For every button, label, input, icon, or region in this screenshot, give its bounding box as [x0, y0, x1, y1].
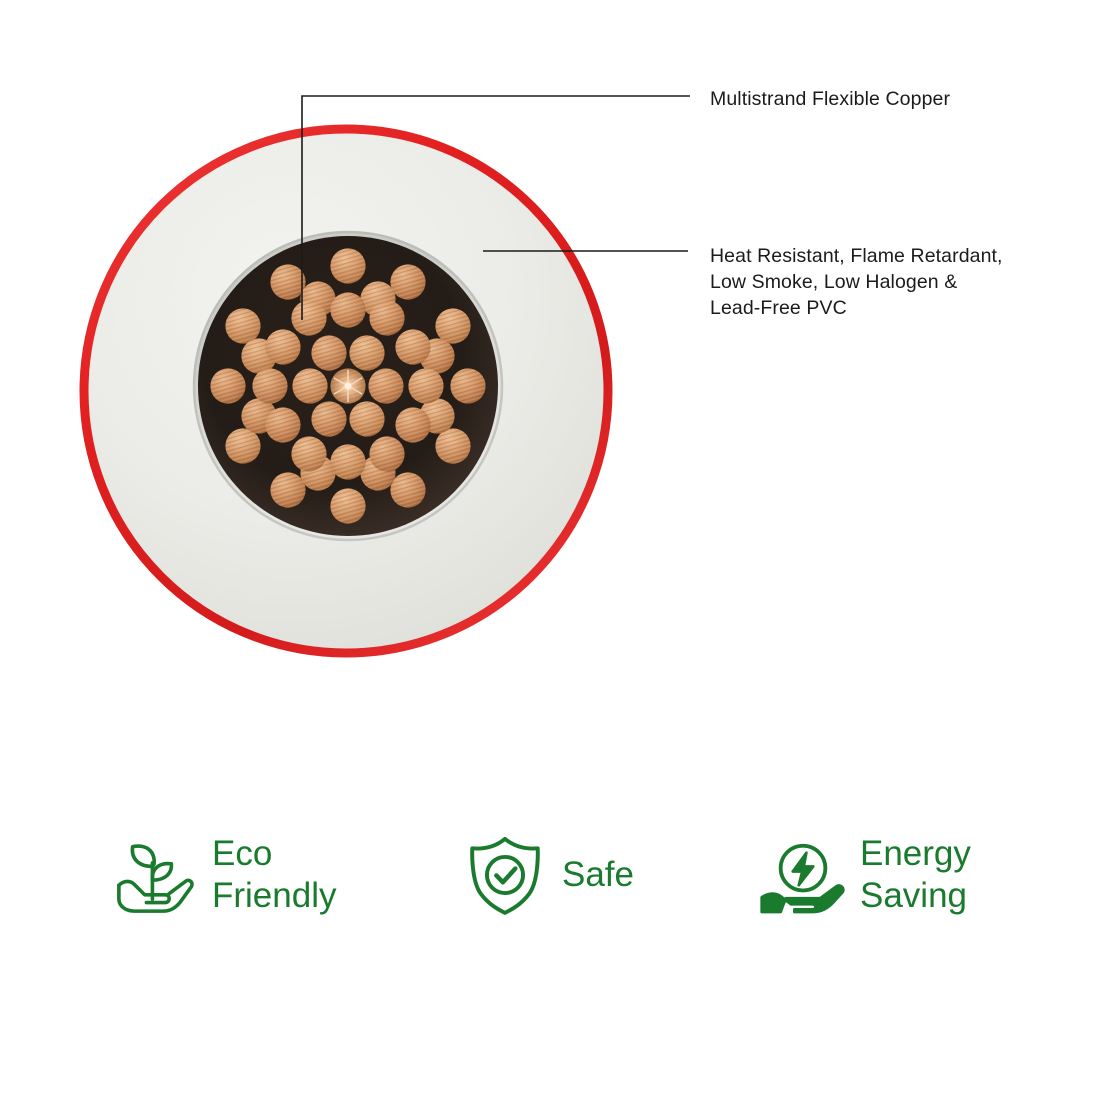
copper-strand — [369, 300, 404, 335]
feature-label-eco-friendly: Eco Friendly — [212, 833, 336, 917]
copper-strand — [311, 401, 346, 436]
copper-strand — [225, 428, 260, 463]
copper-strand — [450, 368, 485, 403]
callout-label-multistrand-copper: Multistrand Flexible Copper — [710, 86, 950, 112]
product-infographic: Multistrand Flexible Copper Heat Resista… — [0, 0, 1100, 1100]
copper-strand — [292, 368, 327, 403]
copper-strand — [265, 329, 300, 364]
feature-badge-row: Eco Friendly Safe Energy Saving — [0, 805, 1100, 955]
hand-holding-bolt-icon — [760, 832, 846, 918]
feature-label-safe: Safe — [562, 854, 634, 896]
copper-strand — [330, 488, 365, 523]
copper-strand — [390, 472, 425, 507]
copper-strand — [270, 472, 305, 507]
copper-strand — [390, 264, 425, 299]
callout-label-pvc-properties: Heat Resistant, Flame Retardant, Low Smo… — [710, 243, 1003, 321]
feature-label-energy-saving: Energy Saving — [860, 833, 971, 917]
feature-energy-saving: Energy Saving — [760, 805, 971, 945]
shield-check-icon — [462, 832, 548, 918]
hand-holding-sprout-icon — [112, 832, 198, 918]
copper-strand — [225, 308, 260, 343]
copper-strand — [330, 444, 365, 479]
copper-strand — [395, 407, 430, 442]
copper-strand — [270, 264, 305, 299]
copper-strand — [369, 436, 404, 471]
copper-strand — [291, 300, 326, 335]
copper-strand — [311, 335, 346, 370]
copper-strand — [330, 248, 365, 283]
copper-strand — [435, 428, 470, 463]
copper-strand — [435, 308, 470, 343]
center-copper-strand — [330, 368, 365, 403]
copper-strand — [210, 368, 245, 403]
copper-strand — [349, 401, 384, 436]
copper-strand — [291, 436, 326, 471]
feature-safe: Safe — [462, 805, 634, 945]
feature-eco-friendly: Eco Friendly — [112, 805, 336, 945]
copper-strand — [265, 407, 300, 442]
copper-strand — [395, 329, 430, 364]
copper-strand — [252, 368, 287, 403]
cable-cross-section-diagram — [0, 0, 700, 700]
copper-strand — [368, 368, 403, 403]
copper-strand — [330, 292, 365, 327]
copper-strand — [349, 335, 384, 370]
copper-strand — [408, 368, 443, 403]
